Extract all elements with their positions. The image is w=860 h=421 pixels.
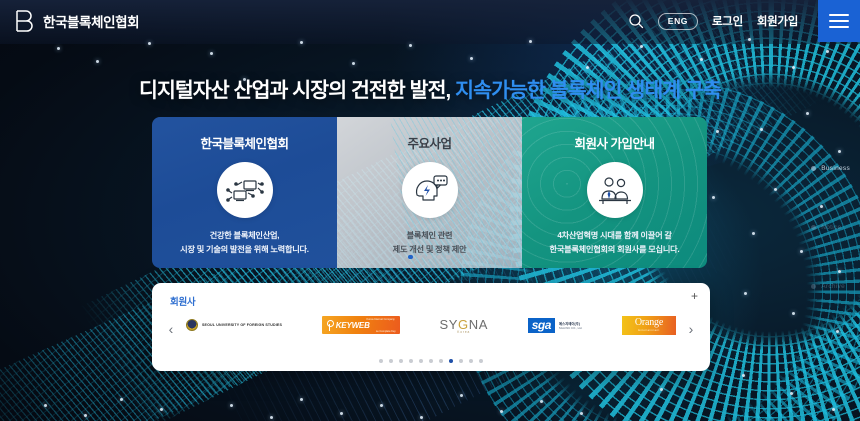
- background-particle: [640, 45, 643, 48]
- login-link[interactable]: 로그인: [712, 13, 743, 29]
- brand-name: 한국블록체인협회: [43, 11, 139, 31]
- member-logo-sygna[interactable]: SYGNA Korea: [439, 314, 488, 336]
- background-particle: [586, 66, 589, 69]
- carousel-dot[interactable]: [446, 255, 451, 260]
- card-description: 4차산업혁명 시대를 함께 이끌어 갈 한국블록체인협회의 회원사를 모십니다.: [550, 229, 680, 256]
- background-particle: [57, 47, 60, 50]
- member-logo-sub-text: Korea: [457, 330, 470, 334]
- side-nav-item[interactable]: Notice: [811, 224, 850, 231]
- card-desc-line: 한국블록체인협회의 회원사를 모십니다.: [550, 243, 680, 257]
- background-particle: [230, 404, 233, 407]
- card-carousel-dots[interactable]: [337, 255, 522, 260]
- hamburger-bar: [829, 26, 849, 28]
- carousel-dot[interactable]: [399, 359, 404, 364]
- background-particle: [270, 416, 273, 419]
- expand-members-button[interactable]: +: [688, 289, 701, 302]
- member-logo-sga[interactable]: sga 에스지에이(주) SGA INC CO., Ltd.: [528, 314, 583, 336]
- members-label: 회원사: [170, 294, 195, 308]
- card-title: 회원사 가입안내: [575, 133, 655, 152]
- background-particle: [300, 398, 303, 401]
- card-membership[interactable]: 회원사 가입안내 4차산업혁명 시대를 함께 이끌어 갈 한국블록체인협회의 회…: [522, 117, 707, 268]
- background-particle: [742, 374, 745, 377]
- carousel-dot[interactable]: [409, 359, 414, 364]
- headline-part-blue: 지속가능한 블록체인 생태계 구축: [455, 79, 721, 102]
- card-desc-line: 건강한 블록체인산업,: [180, 229, 309, 243]
- side-nav-label: Notice: [821, 224, 841, 231]
- member-logo-top-text: Korea Internet Company: [366, 318, 394, 321]
- search-icon[interactable]: [628, 13, 644, 29]
- card-desc-line: 4차산업혁명 시대를 함께 이끌어 갈: [550, 229, 680, 243]
- member-logo-text: KEYWEB: [336, 321, 370, 330]
- card-main-business[interactable]: 주요사업 블록체인 관련 제도 개선 및 정책 제안: [337, 117, 522, 268]
- card-desc-line: 블록체인 관련: [393, 229, 467, 243]
- members-prev-button[interactable]: ‹: [164, 321, 178, 337]
- background-particle: [500, 410, 503, 413]
- member-logo-text: Orange: [635, 318, 663, 328]
- background-particle: [460, 394, 463, 397]
- background-particle: [210, 52, 213, 55]
- background-particle: [380, 404, 383, 407]
- background-particle: [712, 196, 715, 199]
- background-particle: [120, 398, 123, 401]
- member-logo-keyweb[interactable]: KEYWEB Korea Internet Company Le Complet…: [322, 314, 400, 336]
- side-nav-label: Archive: [821, 283, 845, 290]
- background-particle: [148, 42, 151, 45]
- card-association[interactable]: 한국블록체인협회: [152, 117, 337, 268]
- background-particle: [84, 414, 87, 417]
- card-title: 한국블록체인협회: [200, 133, 288, 152]
- carousel-dot[interactable]: [449, 359, 454, 364]
- site-header: 한국블록체인협회 ENG 로그인 회원가입: [0, 0, 860, 42]
- b-logo-icon: [14, 10, 34, 32]
- side-nav-dot-icon: [811, 225, 816, 230]
- hamburger-bar: [829, 20, 849, 22]
- carousel-dot[interactable]: [459, 359, 464, 364]
- section-side-nav: BusinessNoticeArchive: [811, 165, 850, 290]
- background-particle: [752, 232, 755, 235]
- hero-headline: 디지털자산 산업과 시장의 건전한 발전, 지속가능한 블록체인 생태계 구축: [0, 73, 860, 103]
- carousel-dot[interactable]: [419, 359, 424, 364]
- side-nav-dot-icon: [811, 284, 816, 289]
- background-particle: [580, 412, 583, 415]
- members-next-button[interactable]: ›: [684, 321, 698, 337]
- member-logo-sub-text: Le Complete Key: [376, 330, 396, 333]
- side-nav-item[interactable]: Business: [811, 165, 850, 172]
- background-particle: [806, 112, 809, 115]
- head-lightning-speech-icon: [402, 162, 458, 218]
- member-logo-row: SEOUL UNIVERSITY OF FOREIGN STUDIES KEYW…: [186, 312, 676, 338]
- member-logo-sub-text: Entertainment: [638, 329, 659, 332]
- carousel-dot[interactable]: [439, 359, 444, 364]
- member-logo-orange[interactable]: Orange Entertainment: [622, 314, 676, 336]
- member-logo-text: sga: [528, 318, 555, 333]
- background-particle: [760, 128, 763, 131]
- side-nav-dot-icon: [811, 166, 816, 171]
- member-logo-ko-sub: SGA INC CO., Ltd.: [559, 326, 582, 330]
- background-particle: [774, 188, 777, 191]
- headline-part-white: 디지털자산 산업과 시장의 건전한 발전,: [139, 79, 455, 102]
- card-description: 건강한 블록체인산업, 시장 및 기술의 발전을 위해 노력합니다.: [180, 229, 309, 256]
- carousel-dot[interactable]: [418, 255, 423, 260]
- background-particle: [792, 312, 795, 315]
- background-particle: [716, 130, 719, 133]
- background-particle: [352, 62, 355, 65]
- card-description: 블록체인 관련 제도 개선 및 정책 제안: [393, 229, 467, 256]
- background-particle: [470, 57, 473, 60]
- member-logo-sufs[interactable]: SEOUL UNIVERSITY OF FOREIGN STUDIES: [186, 314, 282, 336]
- background-particle: [792, 66, 795, 69]
- hamburger-menu-icon[interactable]: [818, 0, 860, 42]
- language-toggle[interactable]: ENG: [658, 13, 698, 30]
- side-nav-label: Business: [821, 165, 850, 172]
- card-desc-line: 시장 및 기술의 발전을 위해 노력합니다.: [180, 243, 309, 257]
- carousel-dot[interactable]: [408, 255, 413, 260]
- carousel-dot[interactable]: [427, 255, 432, 260]
- carousel-dot[interactable]: [437, 255, 442, 260]
- member-logo-text: SEOUL UNIVERSITY OF FOREIGN STUDIES: [202, 323, 282, 327]
- members-carousel-dots[interactable]: [152, 359, 710, 364]
- hamburger-bar: [829, 14, 849, 16]
- card-title: 주요사업: [407, 133, 451, 152]
- sufs-seal-icon: [186, 319, 198, 331]
- carousel-dot[interactable]: [379, 359, 384, 364]
- carousel-dot[interactable]: [389, 359, 394, 364]
- brand-logo[interactable]: 한국블록체인협회: [14, 10, 139, 32]
- background-particle: [44, 404, 47, 407]
- background-particle: [838, 150, 841, 153]
- background-particle: [700, 58, 703, 61]
- background-particle: [340, 412, 343, 415]
- background-particle: [832, 408, 835, 411]
- key-icon: [326, 320, 333, 331]
- hero-cards: 한국블록체인협회: [152, 117, 708, 268]
- background-particle: [826, 50, 829, 53]
- background-particle: [409, 44, 412, 47]
- background-particle: [660, 388, 663, 391]
- background-particle: [744, 292, 747, 295]
- network-computers-icon: [217, 162, 273, 218]
- two-people-icon: [587, 162, 643, 218]
- header-actions: ENG 로그인 회원가입: [628, 0, 860, 42]
- background-particle: [800, 250, 803, 253]
- carousel-dot[interactable]: [469, 359, 474, 364]
- background-particle: [836, 330, 839, 333]
- background-particle: [160, 408, 163, 411]
- background-particle: [420, 416, 423, 419]
- signup-link[interactable]: 회원가입: [757, 13, 798, 29]
- side-nav-item[interactable]: Archive: [811, 283, 850, 290]
- background-particle: [96, 60, 99, 63]
- background-particle: [540, 400, 543, 403]
- background-particle: [790, 392, 793, 395]
- members-panel: 회원사 + ‹ › SEOUL UNIVERSITY OF FOREIGN ST…: [152, 283, 710, 371]
- carousel-dot[interactable]: [429, 359, 434, 364]
- carousel-dot[interactable]: [479, 359, 484, 364]
